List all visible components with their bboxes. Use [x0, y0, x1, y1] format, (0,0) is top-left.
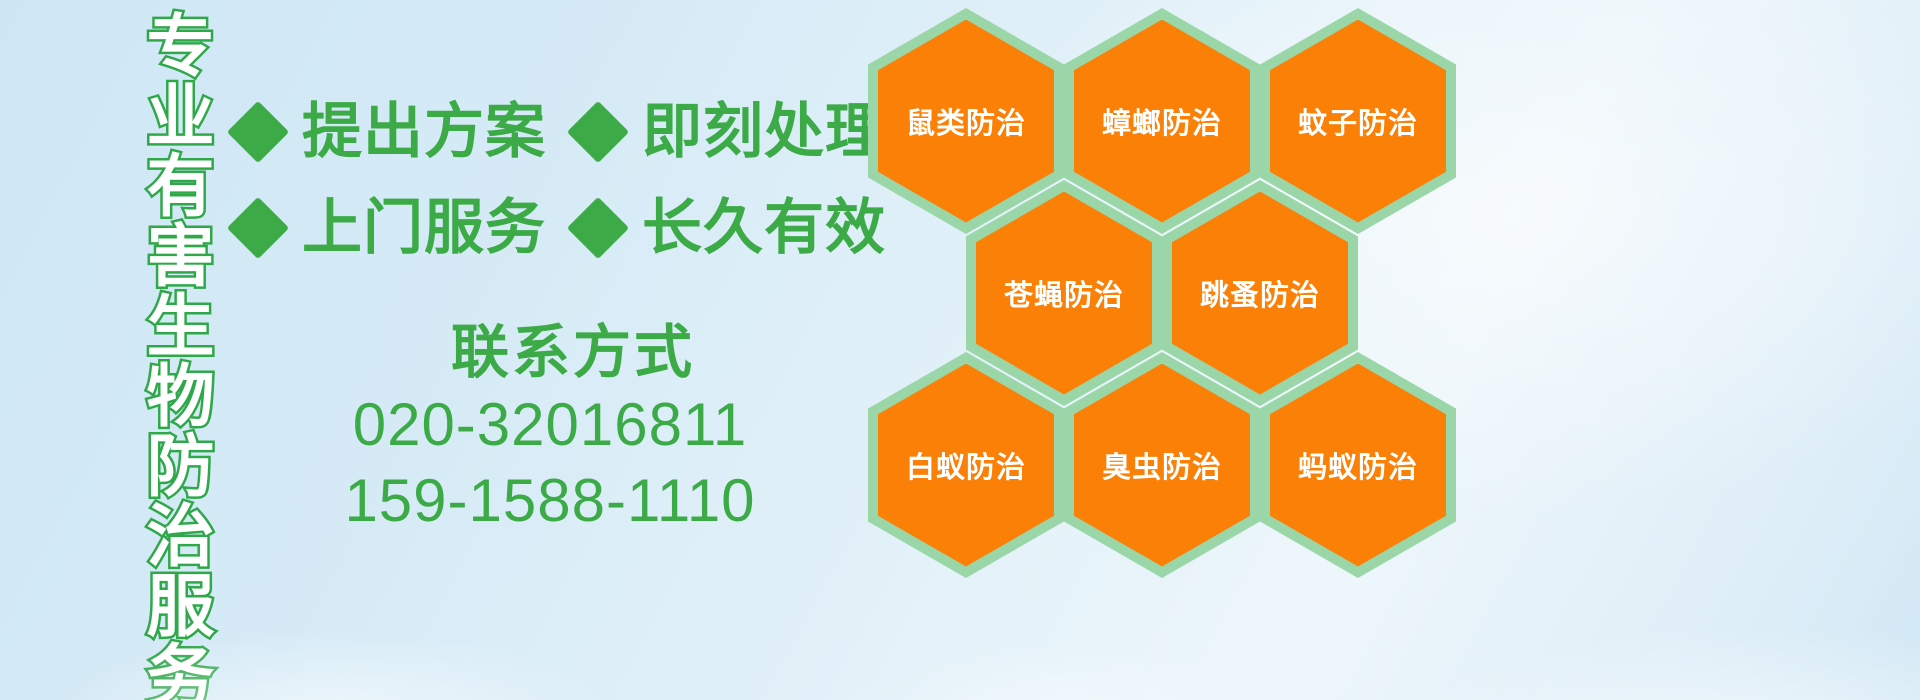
feature-item-onsite-service: 上门服务 [236, 198, 546, 258]
service-label: 鼠类防治 [906, 100, 1026, 142]
diamond-bullet-icon [227, 197, 289, 259]
hex-inner: 蚊子防治 [1270, 20, 1446, 223]
feature-label: 即刻处理 [642, 102, 886, 162]
feature-item-propose-plan: 提出方案 [236, 102, 546, 162]
hex-inner: 白蚁防治 [878, 364, 1054, 567]
service-label: 跳蚤防治 [1200, 272, 1320, 314]
feature-label: 提出方案 [302, 102, 546, 162]
hex-inner: 苍蝇防治 [976, 192, 1152, 395]
contact-title: 联系方式 [346, 320, 800, 387]
feature-row: 提出方案 即刻处理 [236, 84, 866, 180]
feature-item-immediate-handling: 即刻处理 [576, 102, 886, 162]
hex-inner: 跳蚤防治 [1172, 192, 1348, 395]
feature-row: 上门服务 长久有效 [236, 180, 866, 276]
contact-block: 联系方式 020-32016811 159-1588-1110 [300, 320, 800, 539]
service-label: 蚊子防治 [1298, 100, 1418, 142]
contact-phone-mobile[interactable]: 159-1588-1110 [300, 463, 800, 539]
hex-inner: 蟑螂防治 [1074, 20, 1250, 223]
service-label: 蚂蚁防治 [1298, 444, 1418, 486]
feature-label: 上门服务 [302, 198, 546, 258]
contact-phone-landline[interactable]: 020-32016811 [300, 387, 800, 463]
feature-item-long-lasting: 长久有效 [576, 198, 886, 258]
service-label: 臭虫防治 [1102, 444, 1222, 486]
diamond-bullet-icon [227, 101, 289, 163]
service-label: 白蚁防治 [906, 444, 1026, 486]
service-label: 苍蝇防治 [1004, 272, 1124, 314]
feature-list: 提出方案 即刻处理 上门服务 长久有效 [236, 84, 866, 276]
hex-inner: 臭虫防治 [1074, 364, 1250, 567]
pest-control-banner: 专业有害生物防治服务 提出方案 即刻处理 上门服务 长久有效 联 [0, 0, 1920, 700]
service-hex-grid: 鼠类防治 蟑螂防治 蚊子防治 苍蝇防治 跳蚤防治 白蚁防治 [862, 0, 1462, 560]
diamond-bullet-icon [567, 101, 629, 163]
service-label: 蟑螂防治 [1102, 100, 1222, 142]
diamond-bullet-icon [567, 197, 629, 259]
hex-inner: 鼠类防治 [878, 20, 1054, 223]
hex-inner: 蚂蚁防治 [1270, 364, 1446, 567]
vertical-headline: 专业有害生物防治服务 [106, 10, 210, 670]
feature-label: 长久有效 [642, 198, 886, 258]
